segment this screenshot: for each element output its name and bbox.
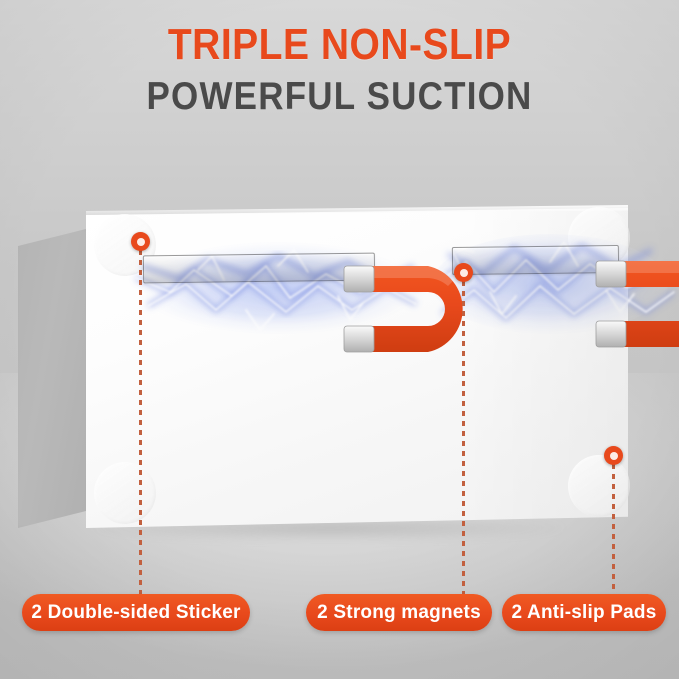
corner-pad-bottom-left	[94, 462, 156, 524]
corner-pad-bottom-right	[568, 455, 630, 517]
callout-leader-line-pad	[612, 464, 615, 596]
feature-pill-double-sided-sticker[interactable]: 2 Double-sided Sticker	[22, 594, 250, 631]
product-side-panel	[18, 228, 90, 528]
callout-dot-sticker[interactable]	[131, 232, 150, 251]
feature-pill-strong-magnets[interactable]: 2 Strong magnets	[306, 594, 492, 631]
product-marketing-image: TRIPLE NON-SLIP POWERFUL SUCTION	[0, 0, 679, 679]
horseshoe-magnet-right	[596, 247, 679, 362]
callout-leader-line-sticker	[139, 250, 142, 596]
callout-dot-magnet[interactable]	[454, 263, 473, 282]
headline-block: TRIPLE NON-SLIP POWERFUL SUCTION	[0, 22, 679, 115]
feature-pill-anti-slip-pads[interactable]: 2 Anti-slip Pads	[502, 594, 666, 631]
adhesive-strip-left	[143, 253, 375, 284]
headline-line-1: TRIPLE NON-SLIP	[0, 22, 679, 69]
callout-leader-line-magnet	[462, 281, 465, 596]
callout-dot-pad[interactable]	[604, 446, 623, 465]
headline-line-2: POWERFUL SUCTION	[0, 76, 679, 118]
